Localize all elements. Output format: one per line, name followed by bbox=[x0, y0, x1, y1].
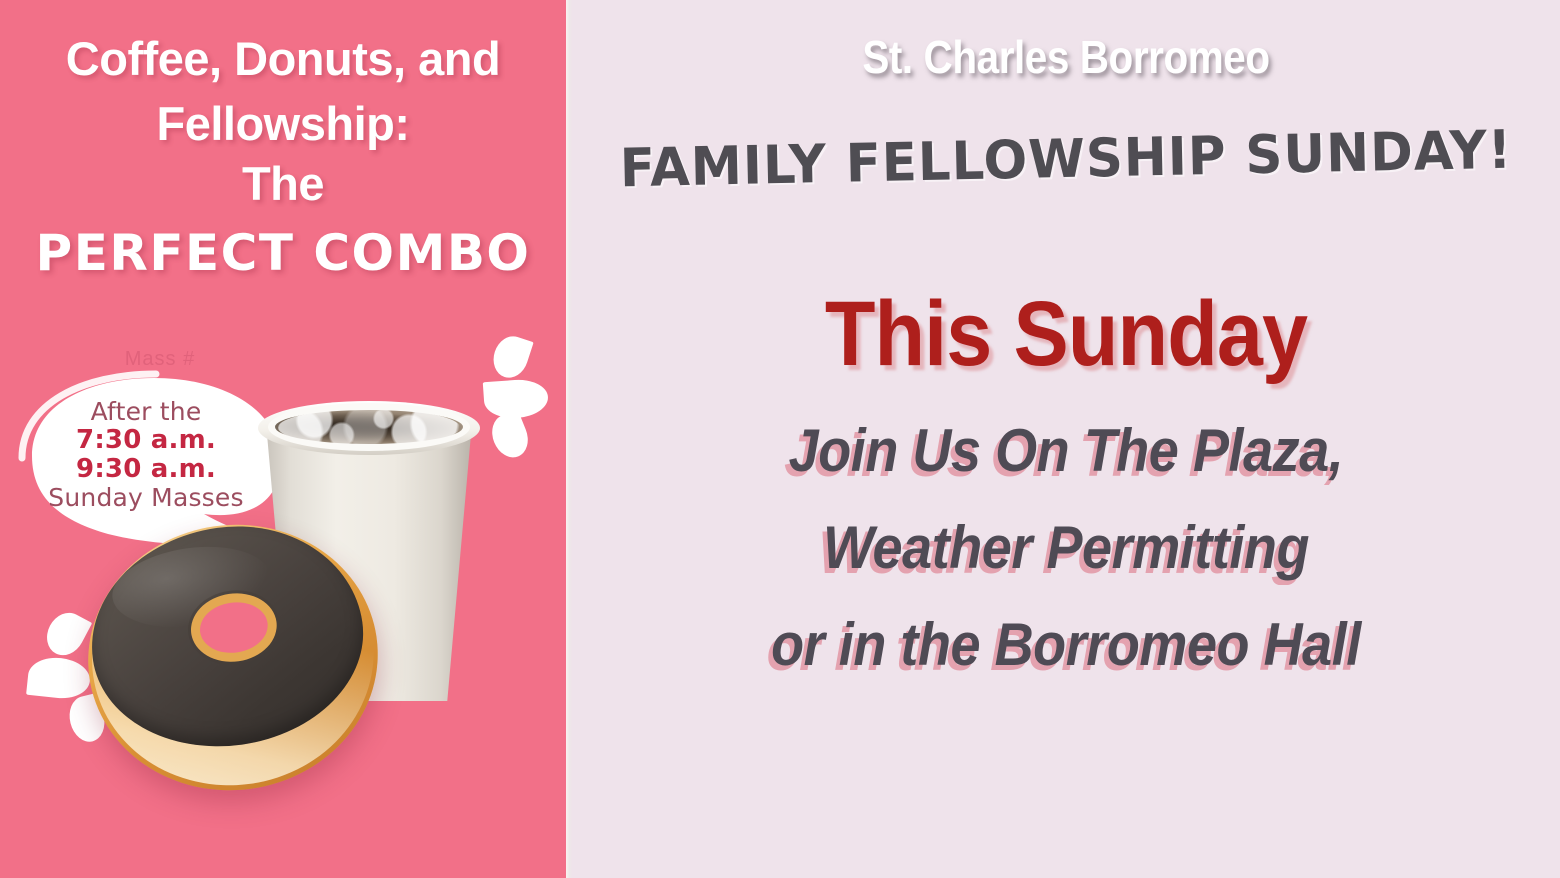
bubble-line-sunday-masses: Sunday Masses bbox=[46, 484, 246, 512]
event-detail-line-1: Join Us On The Plaza, bbox=[621, 421, 1510, 481]
left-pink-panel: Coffee, Donuts, and Fellowship: The PERF… bbox=[0, 0, 566, 878]
headline-line-2: Fellowship: bbox=[0, 100, 566, 147]
event-date-heading: This Sunday bbox=[621, 288, 1510, 380]
event-flyer: Coffee, Donuts, and Fellowship: The PERF… bbox=[0, 0, 1560, 878]
headline-line-1: Coffee, Donuts, and bbox=[0, 35, 566, 82]
parish-name: St. Charles Borromeo bbox=[631, 34, 1500, 80]
droplet-icon bbox=[26, 655, 92, 701]
bubble-mass-time-930: 9:30 a.m. bbox=[46, 455, 246, 484]
splash-droplets-top-right bbox=[466, 336, 566, 454]
event-title: FAMILY FELLOWSHIP SUNDAY! bbox=[586, 123, 1545, 196]
bubble-line-after-the: After the bbox=[46, 398, 246, 426]
event-detail-line-2: Weather Permitting bbox=[621, 518, 1510, 578]
event-detail-line-3: or in the Borromeo Hall bbox=[621, 615, 1510, 675]
cup-rim-inner-edge bbox=[268, 403, 470, 451]
droplet-icon bbox=[486, 409, 534, 463]
bubble-mass-time-730: 7:30 a.m. bbox=[46, 426, 246, 455]
headline-line-3: The bbox=[0, 160, 566, 207]
headline-perfect-combo: PERFECT COMBO bbox=[0, 228, 566, 278]
right-info-panel: St. Charles Borromeo FAMILY FELLOWSHIP S… bbox=[572, 0, 1560, 878]
chocolate-donut-image bbox=[71, 506, 395, 809]
droplet-icon bbox=[488, 332, 533, 382]
mass-times-text: After the 7:30 a.m. 9:30 a.m. Sunday Mas… bbox=[46, 398, 246, 512]
